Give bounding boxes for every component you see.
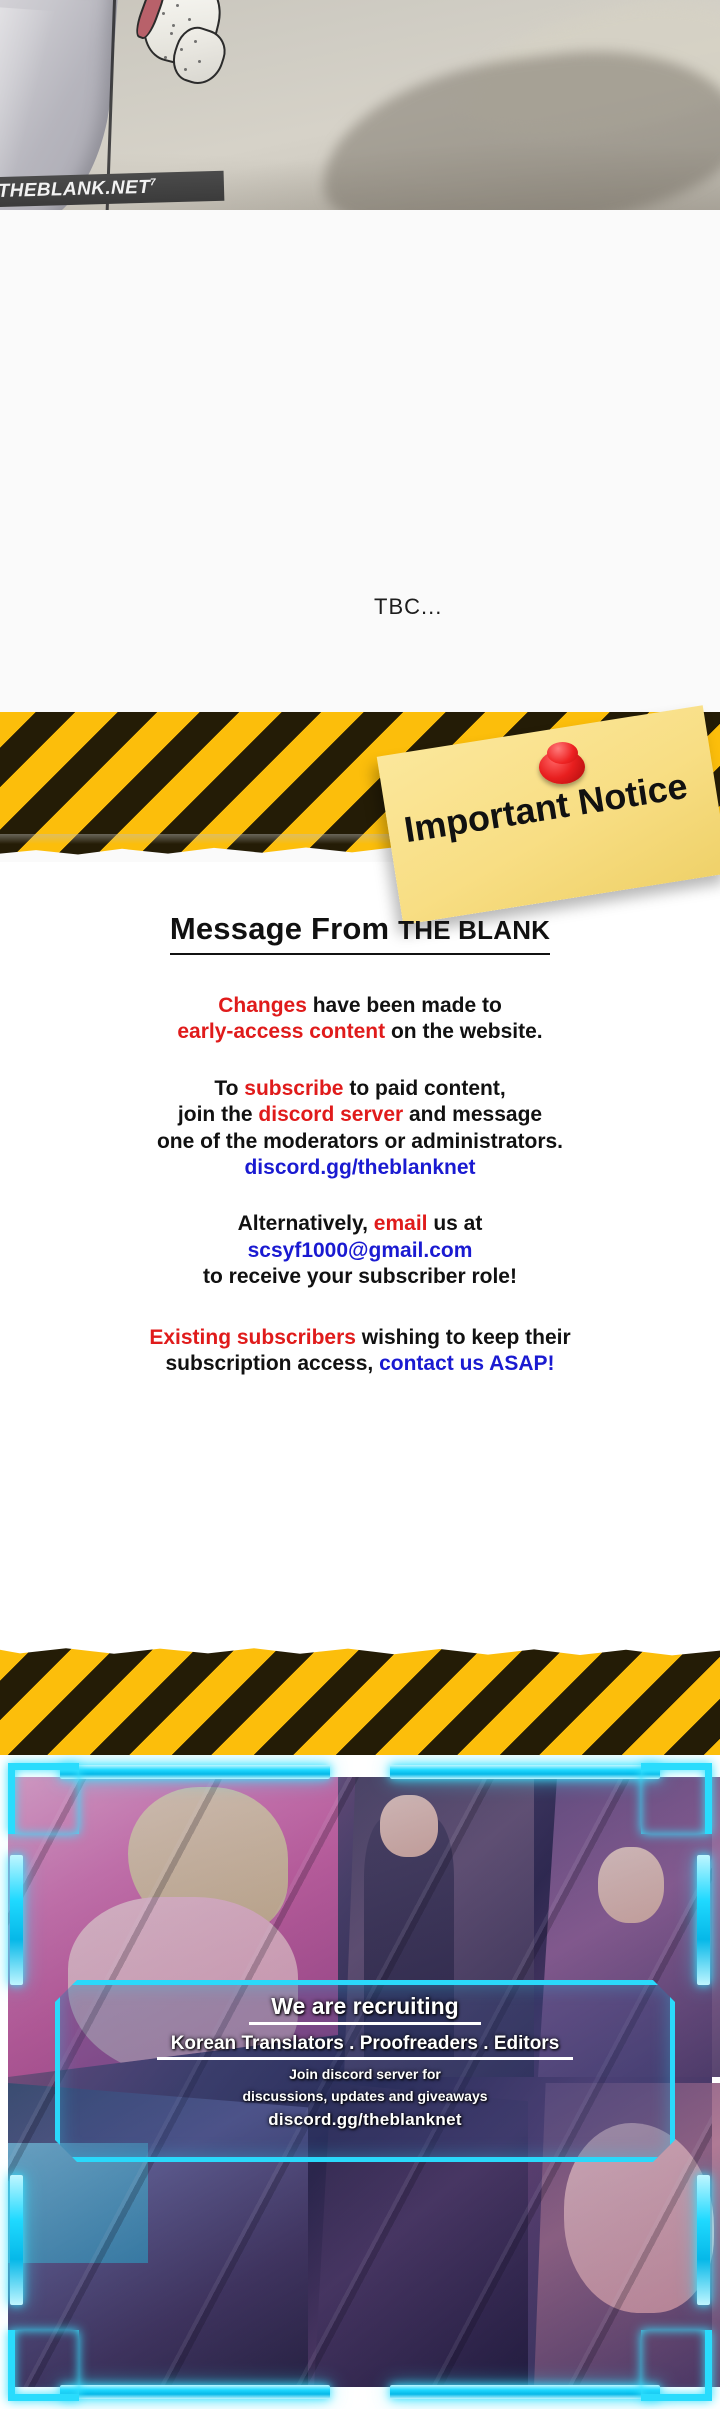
page-title-prefix: Message From bbox=[170, 911, 398, 946]
watermark-text: .THEBLANK.NET bbox=[0, 177, 151, 202]
notice-message-block: Message From THE BLANK Changes have been… bbox=[0, 910, 720, 1378]
hazard-tape-bottom bbox=[0, 1645, 720, 1773]
notice-text-segment: email bbox=[374, 1212, 428, 1235]
notice-text-segment: one of the moderators or administrators. bbox=[157, 1130, 563, 1153]
recruit-sub-line-1: Join discord server for bbox=[60, 2066, 670, 2082]
notice-text-segment: join the bbox=[178, 1103, 259, 1126]
notice-line: Alternatively, email us at bbox=[0, 1211, 720, 1237]
notice-line: early-access content on the website. bbox=[0, 1019, 720, 1045]
notice-text-segment: Changes bbox=[218, 994, 307, 1017]
notice-text-segment: subscribe bbox=[244, 1077, 343, 1100]
notice-text-segment: on the website. bbox=[385, 1020, 543, 1043]
recruit-sub-line-2: discussions, updates and giveaways bbox=[60, 2088, 670, 2104]
notice-paragraphs: Changes have been made toearly-access co… bbox=[0, 993, 720, 1378]
notice-text-segment: us at bbox=[428, 1212, 483, 1235]
drape-fold bbox=[0, 5, 63, 191]
notice-text-segment: early-access content bbox=[177, 1020, 385, 1043]
notice-line: Changes have been made to bbox=[0, 993, 720, 1019]
recruiting-banner: We are recruiting Korean Translators . P… bbox=[0, 1755, 720, 2409]
end-of-chapter-panel: TBC... bbox=[0, 210, 720, 712]
notice-text-segment: to receive your subscriber role! bbox=[203, 1265, 517, 1288]
notice-text-segment: to paid content, bbox=[344, 1077, 506, 1100]
push-pin-icon bbox=[539, 742, 585, 784]
notice-line: scsyf1000@gmail.com bbox=[0, 1238, 720, 1264]
notice-text-segment: and message bbox=[403, 1103, 542, 1126]
webtoon-page: .THEBLANK.NET7 TBC... Important Notice M… bbox=[0, 0, 720, 2409]
tbc-text: TBC... bbox=[374, 594, 442, 620]
notice-text-segment[interactable]: scsyf1000@gmail.com bbox=[248, 1239, 473, 1262]
notice-line: one of the moderators or administrators. bbox=[0, 1129, 720, 1155]
recruit-roles: Korean Translators . Proofreaders . Edit… bbox=[157, 2033, 574, 2060]
notice-paragraph: To subscribe to paid content,join the di… bbox=[0, 1076, 720, 1182]
notice-text-segment: have been made to bbox=[307, 994, 502, 1017]
page-title-brand: THE BLANK bbox=[398, 915, 550, 945]
notice-line: to receive your subscriber role! bbox=[0, 1264, 720, 1290]
pin-top bbox=[547, 742, 578, 764]
notice-text-segment[interactable]: discord.gg/theblanknet bbox=[244, 1156, 475, 1179]
neon-bar-bottom-left bbox=[60, 2385, 330, 2399]
recruit-discord-link[interactable]: discord.gg/theblanknet bbox=[60, 2110, 670, 2130]
notice-line: To subscribe to paid content, bbox=[0, 1076, 720, 1102]
notice-text-segment: Alternatively, bbox=[238, 1212, 374, 1235]
notice-text-segment: To bbox=[214, 1077, 244, 1100]
watermark-superscript: 7 bbox=[150, 177, 156, 188]
comic-art-panel: .THEBLANK.NET7 bbox=[0, 0, 720, 210]
notice-line: subscription access, contact us ASAP! bbox=[0, 1351, 720, 1377]
notice-text-segment: wishing to keep their bbox=[356, 1326, 571, 1349]
notice-text-segment: subscription access, bbox=[165, 1352, 379, 1375]
notice-line: discord.gg/theblanknet bbox=[0, 1155, 720, 1181]
page-title: Message From THE BLANK bbox=[170, 910, 550, 955]
notice-line: join the discord server and message bbox=[0, 1102, 720, 1128]
notice-paragraph: Existing subscribers wishing to keep the… bbox=[0, 1325, 720, 1378]
recruit-title: We are recruiting bbox=[249, 1993, 480, 2025]
notice-line: Existing subscribers wishing to keep the… bbox=[0, 1325, 720, 1351]
recruiting-text-box: We are recruiting Korean Translators . P… bbox=[55, 1980, 675, 2162]
hazard-stripes-bottom bbox=[0, 1645, 720, 1773]
pattern-dots bbox=[150, 0, 216, 76]
notice-text-segment: Existing subscribers bbox=[149, 1326, 356, 1349]
notice-paragraph: Changes have been made toearly-access co… bbox=[0, 993, 720, 1046]
notice-text-segment: discord server bbox=[258, 1103, 403, 1126]
notice-paragraph: Alternatively, email us atscsyf1000@gmai… bbox=[0, 1211, 720, 1290]
notice-text-segment: contact us ASAP! bbox=[379, 1352, 554, 1375]
neon-bar-bottom-right bbox=[390, 2385, 660, 2399]
